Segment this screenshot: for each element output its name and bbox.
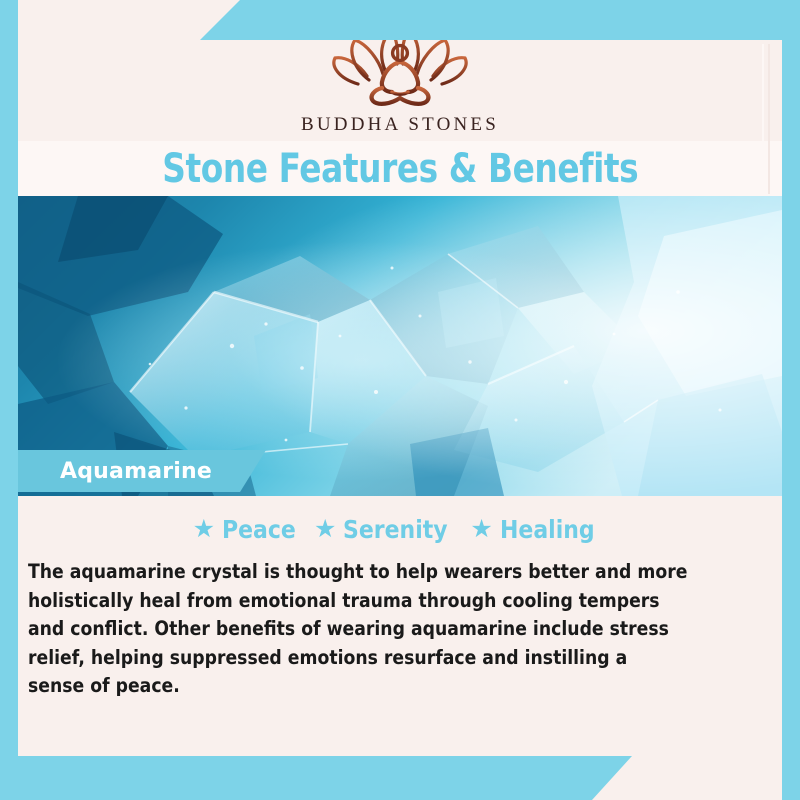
- stone-name-tag: Aquamarine: [18, 450, 266, 492]
- keyword-label: Serenity: [343, 517, 448, 542]
- keyword-label: Peace: [222, 517, 296, 542]
- keyword-item-peace: ★ Peace: [193, 517, 306, 542]
- aquamarine-crystal-photo: Aquamarine: [18, 196, 782, 496]
- keyword-item-healing: ★ Healing: [470, 517, 607, 542]
- star-icon: ★: [314, 517, 336, 542]
- stone-name-label: Aquamarine: [60, 459, 212, 484]
- brand-name: BUDDHA STONES: [301, 114, 499, 136]
- star-icon: ★: [470, 517, 492, 542]
- bottom-accent-bar: [0, 756, 632, 800]
- stone-description: The aquamarine crystal is thought to hel…: [28, 558, 688, 701]
- page-title: Stone Features & Benefits: [162, 149, 638, 189]
- keyword-item-serenity: ★ Serenity: [314, 517, 462, 542]
- keyword-list: ★ Peace ★ Serenity ★ Healing: [18, 508, 782, 550]
- poster-card: BUDDHA STONES Stone Features & Benefits: [18, 0, 782, 800]
- star-icon: ★: [193, 517, 215, 542]
- decor-hairline: [762, 44, 764, 194]
- top-accent-bar: [200, 0, 800, 40]
- keyword-label: Healing: [500, 517, 595, 542]
- title-band: Stone Features & Benefits: [18, 141, 782, 196]
- decor-hairline: [768, 44, 770, 194]
- poster-canvas: BUDDHA STONES Stone Features & Benefits: [0, 0, 800, 800]
